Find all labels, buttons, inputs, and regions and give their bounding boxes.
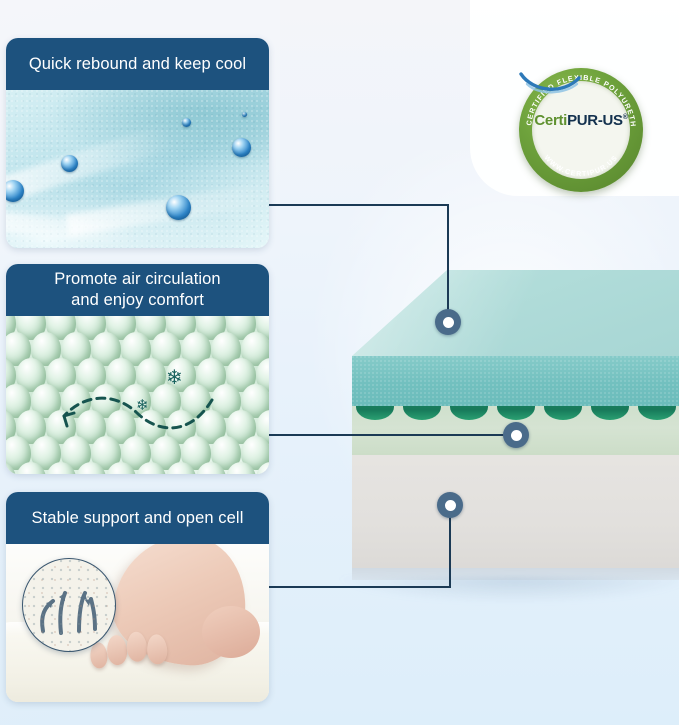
card-header-air-circulation: Promote air circulation and enjoy comfor… <box>6 264 269 316</box>
card-image-stable-support <box>6 544 269 702</box>
card-title-line: Promote air circulation <box>54 269 220 290</box>
marker-middle-layer[interactable] <box>503 422 529 448</box>
feature-card-air-circulation[interactable]: Promote air circulation and enjoy comfor… <box>6 264 269 474</box>
layer-cooling-gel-top <box>352 356 679 406</box>
badge-swoosh-icon <box>519 68 583 98</box>
snowflake-icon: ❄ <box>166 368 183 388</box>
badge-wordmark: CertiPUR-US® <box>519 112 643 129</box>
mattress-top-sheen <box>330 255 679 360</box>
marker-dot <box>445 500 456 511</box>
layer-support-base <box>352 455 679 568</box>
snowflake-icon: ❄ <box>136 398 149 413</box>
gel-bead <box>182 118 191 127</box>
card-header-stable-support: Stable support and open cell <box>6 492 269 544</box>
connector-line-1-vertical <box>447 204 449 312</box>
feature-card-stable-support[interactable]: Stable support and open cell <box>6 492 269 702</box>
feature-card-quick-rebound[interactable]: Quick rebound and keep cool <box>6 38 269 248</box>
gel-bead <box>242 112 247 117</box>
gel-bead <box>166 195 191 220</box>
marker-top-layer[interactable] <box>435 309 461 335</box>
airflow-arrow-icon <box>40 390 220 434</box>
open-cell-airflow-arrows-icon <box>23 559 115 651</box>
arch-cell <box>450 406 488 420</box>
mattress-ground-shadow <box>340 577 679 603</box>
card-title-line: Stable support and open cell <box>32 509 244 528</box>
card-title-line: Quick rebound and keep cool <box>29 55 246 74</box>
connector-line-1-horizontal <box>269 204 449 206</box>
marker-dot <box>511 430 522 441</box>
badge-trademark: ® <box>623 114 628 121</box>
card-title-line: and enjoy comfort <box>54 290 220 311</box>
marker-base-layer[interactable] <box>437 492 463 518</box>
connector-line-2-horizontal <box>269 434 517 436</box>
badge-word-certi: Certi <box>534 112 567 129</box>
heel-illustration <box>202 606 260 658</box>
svg-text:WWW.CERTIPUR.US: WWW.CERTIPUR.US <box>543 154 620 178</box>
arch-cell <box>544 406 582 420</box>
arch-cell <box>403 406 441 420</box>
card-header-quick-rebound: Quick rebound and keep cool <box>6 38 269 90</box>
marker-dot <box>443 317 454 328</box>
gel-bead <box>232 138 251 157</box>
arch-cell <box>638 406 676 420</box>
connector-line-3-horizontal <box>269 586 451 588</box>
open-cell-magnifier-inset <box>22 558 116 652</box>
arch-cell <box>356 406 394 420</box>
card-image-quick-rebound <box>6 90 269 248</box>
gel-bead <box>61 155 78 172</box>
card-image-air-circulation: ❄ ❄ <box>6 316 269 474</box>
arch-cell <box>591 406 629 420</box>
certipur-us-badge[interactable]: CONTAINS CERTIFIED FLEXIBLE POLYURETHANE… <box>519 68 643 192</box>
badge-word-purus: PUR-US <box>567 112 623 129</box>
badge-arc-bottom-label: WWW.CERTIPUR.US <box>543 154 620 178</box>
arch-cell <box>497 406 535 420</box>
